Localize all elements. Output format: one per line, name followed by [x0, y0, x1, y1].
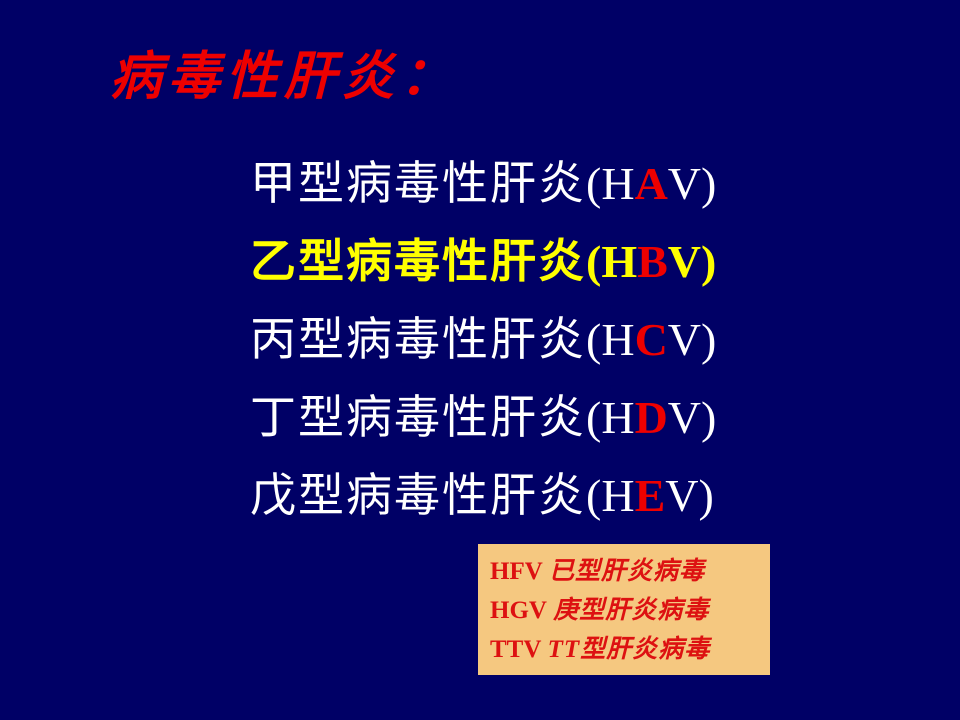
note-line: HGV 庚型肝炎病毒 [490, 591, 770, 630]
hepatitis-type-list: 甲型病毒性肝炎(HAV) 乙型病毒性肝炎(HBV) 丙型病毒性肝炎(HCV) 丁… [250, 145, 780, 535]
paren-open: ( [586, 470, 601, 521]
paren-open: ( [586, 392, 601, 443]
paren-close: ) [701, 158, 716, 209]
note-box: HFV 已型肝炎病毒 HGV 庚型肝炎病毒 TTV TT型肝炎病毒 [478, 544, 770, 675]
note-line: TTV TT型肝炎病毒 [490, 630, 770, 669]
note-abbr: HFV [490, 558, 543, 585]
abbr-accent-letter: C [635, 314, 668, 365]
note-label-cn: 庚型肝炎病毒 [553, 597, 709, 624]
abbr-accent-letter: D [635, 392, 668, 443]
note-label-cn: TT型肝炎病毒 [548, 636, 711, 663]
note-abbr: TTV [490, 636, 541, 663]
note-line: HFV 已型肝炎病毒 [490, 552, 770, 591]
paren-close: ) [701, 236, 716, 287]
list-item: 丁型病毒性肝炎(HDV) [250, 379, 780, 457]
abbr-accent-letter: B [637, 236, 668, 287]
abbr-prefix: H [601, 392, 634, 443]
paren-close: ) [698, 470, 713, 521]
slide-canvas: 病毒性肝炎： 甲型病毒性肝炎(HAV) 乙型病毒性肝炎(HBV) 丙型病毒性肝炎… [0, 0, 960, 720]
abbr-suffix: V [668, 392, 701, 443]
abbr-suffix: V [668, 236, 701, 287]
hepatitis-name-cn: 丁型病毒性肝炎 [250, 392, 586, 443]
abbr-accent-letter: E [635, 470, 666, 521]
list-item: 戊型病毒性肝炎(HEV) [250, 457, 780, 535]
hepatitis-name-cn: 乙型病毒性肝炎 [250, 236, 586, 287]
paren-open: ( [586, 158, 601, 209]
list-item: 乙型病毒性肝炎(HBV) [250, 223, 780, 301]
abbr-suffix: V [668, 158, 701, 209]
paren-close: ) [701, 392, 716, 443]
abbr-suffix: V [668, 314, 701, 365]
paren-open: ( [586, 314, 601, 365]
paren-open: ( [586, 236, 601, 287]
abbr-prefix: H [601, 470, 634, 521]
list-item: 甲型病毒性肝炎(HAV) [250, 145, 780, 223]
paren-close: ) [701, 314, 716, 365]
abbr-suffix: V [665, 470, 698, 521]
note-abbr: HGV [490, 597, 547, 624]
hepatitis-name-cn: 丙型病毒性肝炎 [250, 314, 586, 365]
hepatitis-name-cn: 甲型病毒性肝炎 [250, 158, 586, 209]
list-item: 丙型病毒性肝炎(HCV) [250, 301, 780, 379]
note-label-cn: 已型肝炎病毒 [549, 558, 705, 585]
abbr-accent-letter: A [635, 158, 668, 209]
abbr-prefix: H [601, 314, 634, 365]
abbr-prefix: H [601, 236, 637, 287]
page-title: 病毒性肝炎： [110, 48, 458, 108]
hepatitis-name-cn: 戊型病毒性肝炎 [250, 470, 586, 521]
abbr-prefix: H [601, 158, 634, 209]
